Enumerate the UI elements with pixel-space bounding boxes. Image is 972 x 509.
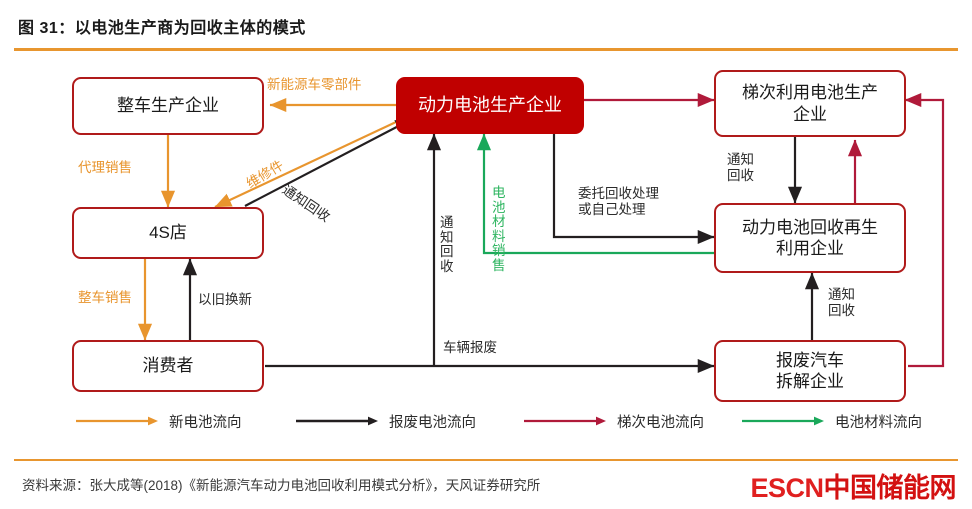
legend-item-cascade-battery: 梯次电池流向 xyxy=(524,404,704,438)
legend-label: 梯次电池流向 xyxy=(617,411,704,432)
legend-arrow-battery-material xyxy=(742,415,826,427)
edge-label-notify-recycle-4: 通知回收 xyxy=(828,287,858,320)
legend: 新电池流向 报废电池流向 梯次电池流向 电池材料流向 xyxy=(0,404,972,438)
edge-label-notify-recycle-3: 通知回收 xyxy=(727,152,757,185)
footer-divider xyxy=(14,459,958,461)
legend-arrow-scrap-battery xyxy=(296,415,380,427)
legend-label: 报废电池流向 xyxy=(389,411,476,432)
legend-item-battery-material: 电池材料流向 xyxy=(742,404,922,438)
edge-label-vehicle-sales: 整车销售 xyxy=(78,290,132,306)
source-note: 资料来源：张大成等(2018)《新能源汽车动力电池回收利用模式分析》，天风证券研… xyxy=(22,474,540,494)
legend-label: 电池材料流向 xyxy=(835,411,922,432)
node-cascade-maker[interactable]: 梯次利用电池生产 企业 xyxy=(714,70,906,137)
legend-label: 新电池流向 xyxy=(169,411,242,432)
node-vehicle-maker[interactable]: 整车生产企业 xyxy=(72,77,264,135)
node-label: 整车生产企业 xyxy=(117,95,219,116)
node-consumer[interactable]: 消费者 xyxy=(72,340,264,392)
node-battery-maker[interactable]: 动力电池生产企业 xyxy=(396,77,584,134)
edge-label-trade-in: 以旧换新 xyxy=(198,292,252,308)
edge-label-agency-sales: 代理销售 xyxy=(78,160,132,176)
figure-root: 图 31：以电池生产商为回收主体的模式 xyxy=(0,0,972,509)
legend-item-scrap-battery: 报废电池流向 xyxy=(296,404,476,438)
legend-item-new-battery: 新电池流向 xyxy=(76,404,242,438)
edge-label-battery-material-sales: 电池材料销售 xyxy=(492,186,506,273)
node-label: 动力电池回收再生 利用企业 xyxy=(742,217,878,260)
node-label: 动力电池生产企业 xyxy=(418,94,562,117)
legend-arrow-new-battery xyxy=(76,415,160,427)
edge-label-entrust-recycle: 委托回收处理 或自己处理 xyxy=(578,186,659,218)
logo-text-en: ESCN xyxy=(750,473,823,503)
node-label: 4S店 xyxy=(149,222,187,243)
node-label: 消费者 xyxy=(143,355,194,376)
node-dismantler[interactable]: 报废汽车 拆解企业 xyxy=(714,340,906,402)
logo-text-cn: 中国储能网 xyxy=(824,473,957,503)
node-recycler[interactable]: 动力电池回收再生 利用企业 xyxy=(714,203,906,273)
edge-label-vehicle-scrap: 车辆报废 xyxy=(443,340,497,356)
edge-label-new-energy-parts: 新能源车零部件 xyxy=(267,77,362,93)
legend-arrow-cascade-battery xyxy=(524,415,608,427)
site-logo: ESCN中国储能网 xyxy=(750,466,956,505)
node-label: 梯次利用电池生产 企业 xyxy=(742,82,878,125)
node-label: 报废汽车 拆解企业 xyxy=(776,350,844,393)
node-dealer-4s[interactable]: 4S店 xyxy=(72,207,264,259)
edge-label-notify-recycle-2: 通知回收 xyxy=(440,216,454,274)
